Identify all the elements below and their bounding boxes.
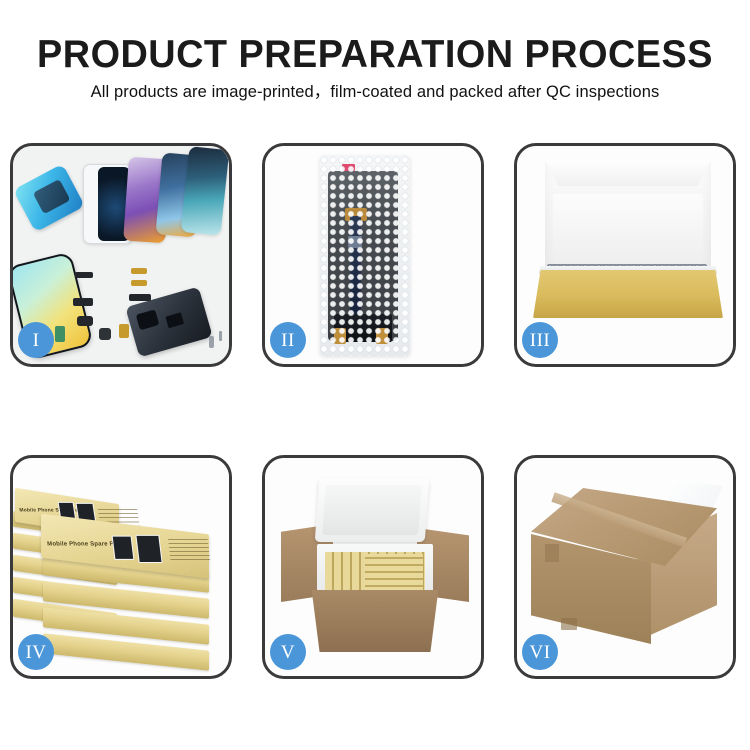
small-part-1 (75, 272, 93, 278)
bubble-wrap-pouch (320, 156, 410, 356)
screw-parts (209, 336, 214, 348)
process-step-panel-3: III (514, 143, 736, 367)
process-step-panel-4: Mobile Phone Spare Parts Mobile Phone Sp… (10, 455, 232, 679)
gold-boxes-packed-secondary (365, 554, 423, 592)
small-part-9 (129, 294, 151, 301)
step-badge-1: I (18, 322, 54, 358)
foam-lid-open (315, 478, 429, 542)
step-badge-5: V (270, 634, 306, 670)
header: PRODUCT PREPARATION PROCESS All products… (0, 34, 750, 102)
process-step-panel-6: VI (514, 455, 736, 679)
flex-cable (350, 216, 361, 321)
box-window-front-1 (112, 536, 135, 560)
small-part-7 (119, 324, 129, 338)
foam-sheet (553, 194, 703, 266)
carton-seam-upper (545, 544, 559, 562)
carton-body (309, 590, 441, 652)
gold-contact-right (376, 328, 388, 344)
small-part-8 (55, 326, 65, 342)
step-badge-2: II (270, 322, 306, 358)
product-preparation-infographic: PRODUCT PREPARATION PROCESS All products… (0, 0, 750, 750)
box-window-front-2 (135, 535, 162, 563)
kraft-tray (533, 270, 723, 318)
small-part-4 (73, 298, 93, 306)
gold-contact-left (334, 328, 346, 344)
process-step-grid: I II (10, 143, 740, 682)
process-step-panel-2: II (262, 143, 484, 367)
driver-chip (348, 236, 362, 248)
small-part-6 (99, 328, 111, 340)
small-part-3 (131, 280, 147, 286)
page-title: PRODUCT PREPARATION PROCESS (11, 34, 739, 76)
small-part-2 (131, 268, 147, 274)
qc-sticker (342, 164, 355, 171)
teal-phone-screen (181, 146, 229, 236)
page-subtitle: All products are image-printed，film-coat… (0, 82, 750, 102)
box-spec-lines-front (168, 538, 210, 560)
step-badge-4: IV (18, 634, 54, 670)
process-step-panel-5: V (262, 455, 484, 679)
small-part-5 (77, 316, 93, 326)
process-step-panel-1: I (10, 143, 232, 367)
carton-seam-lower (561, 618, 577, 630)
step-badge-6: VI (522, 634, 558, 670)
step-badge-3: III (522, 322, 558, 358)
